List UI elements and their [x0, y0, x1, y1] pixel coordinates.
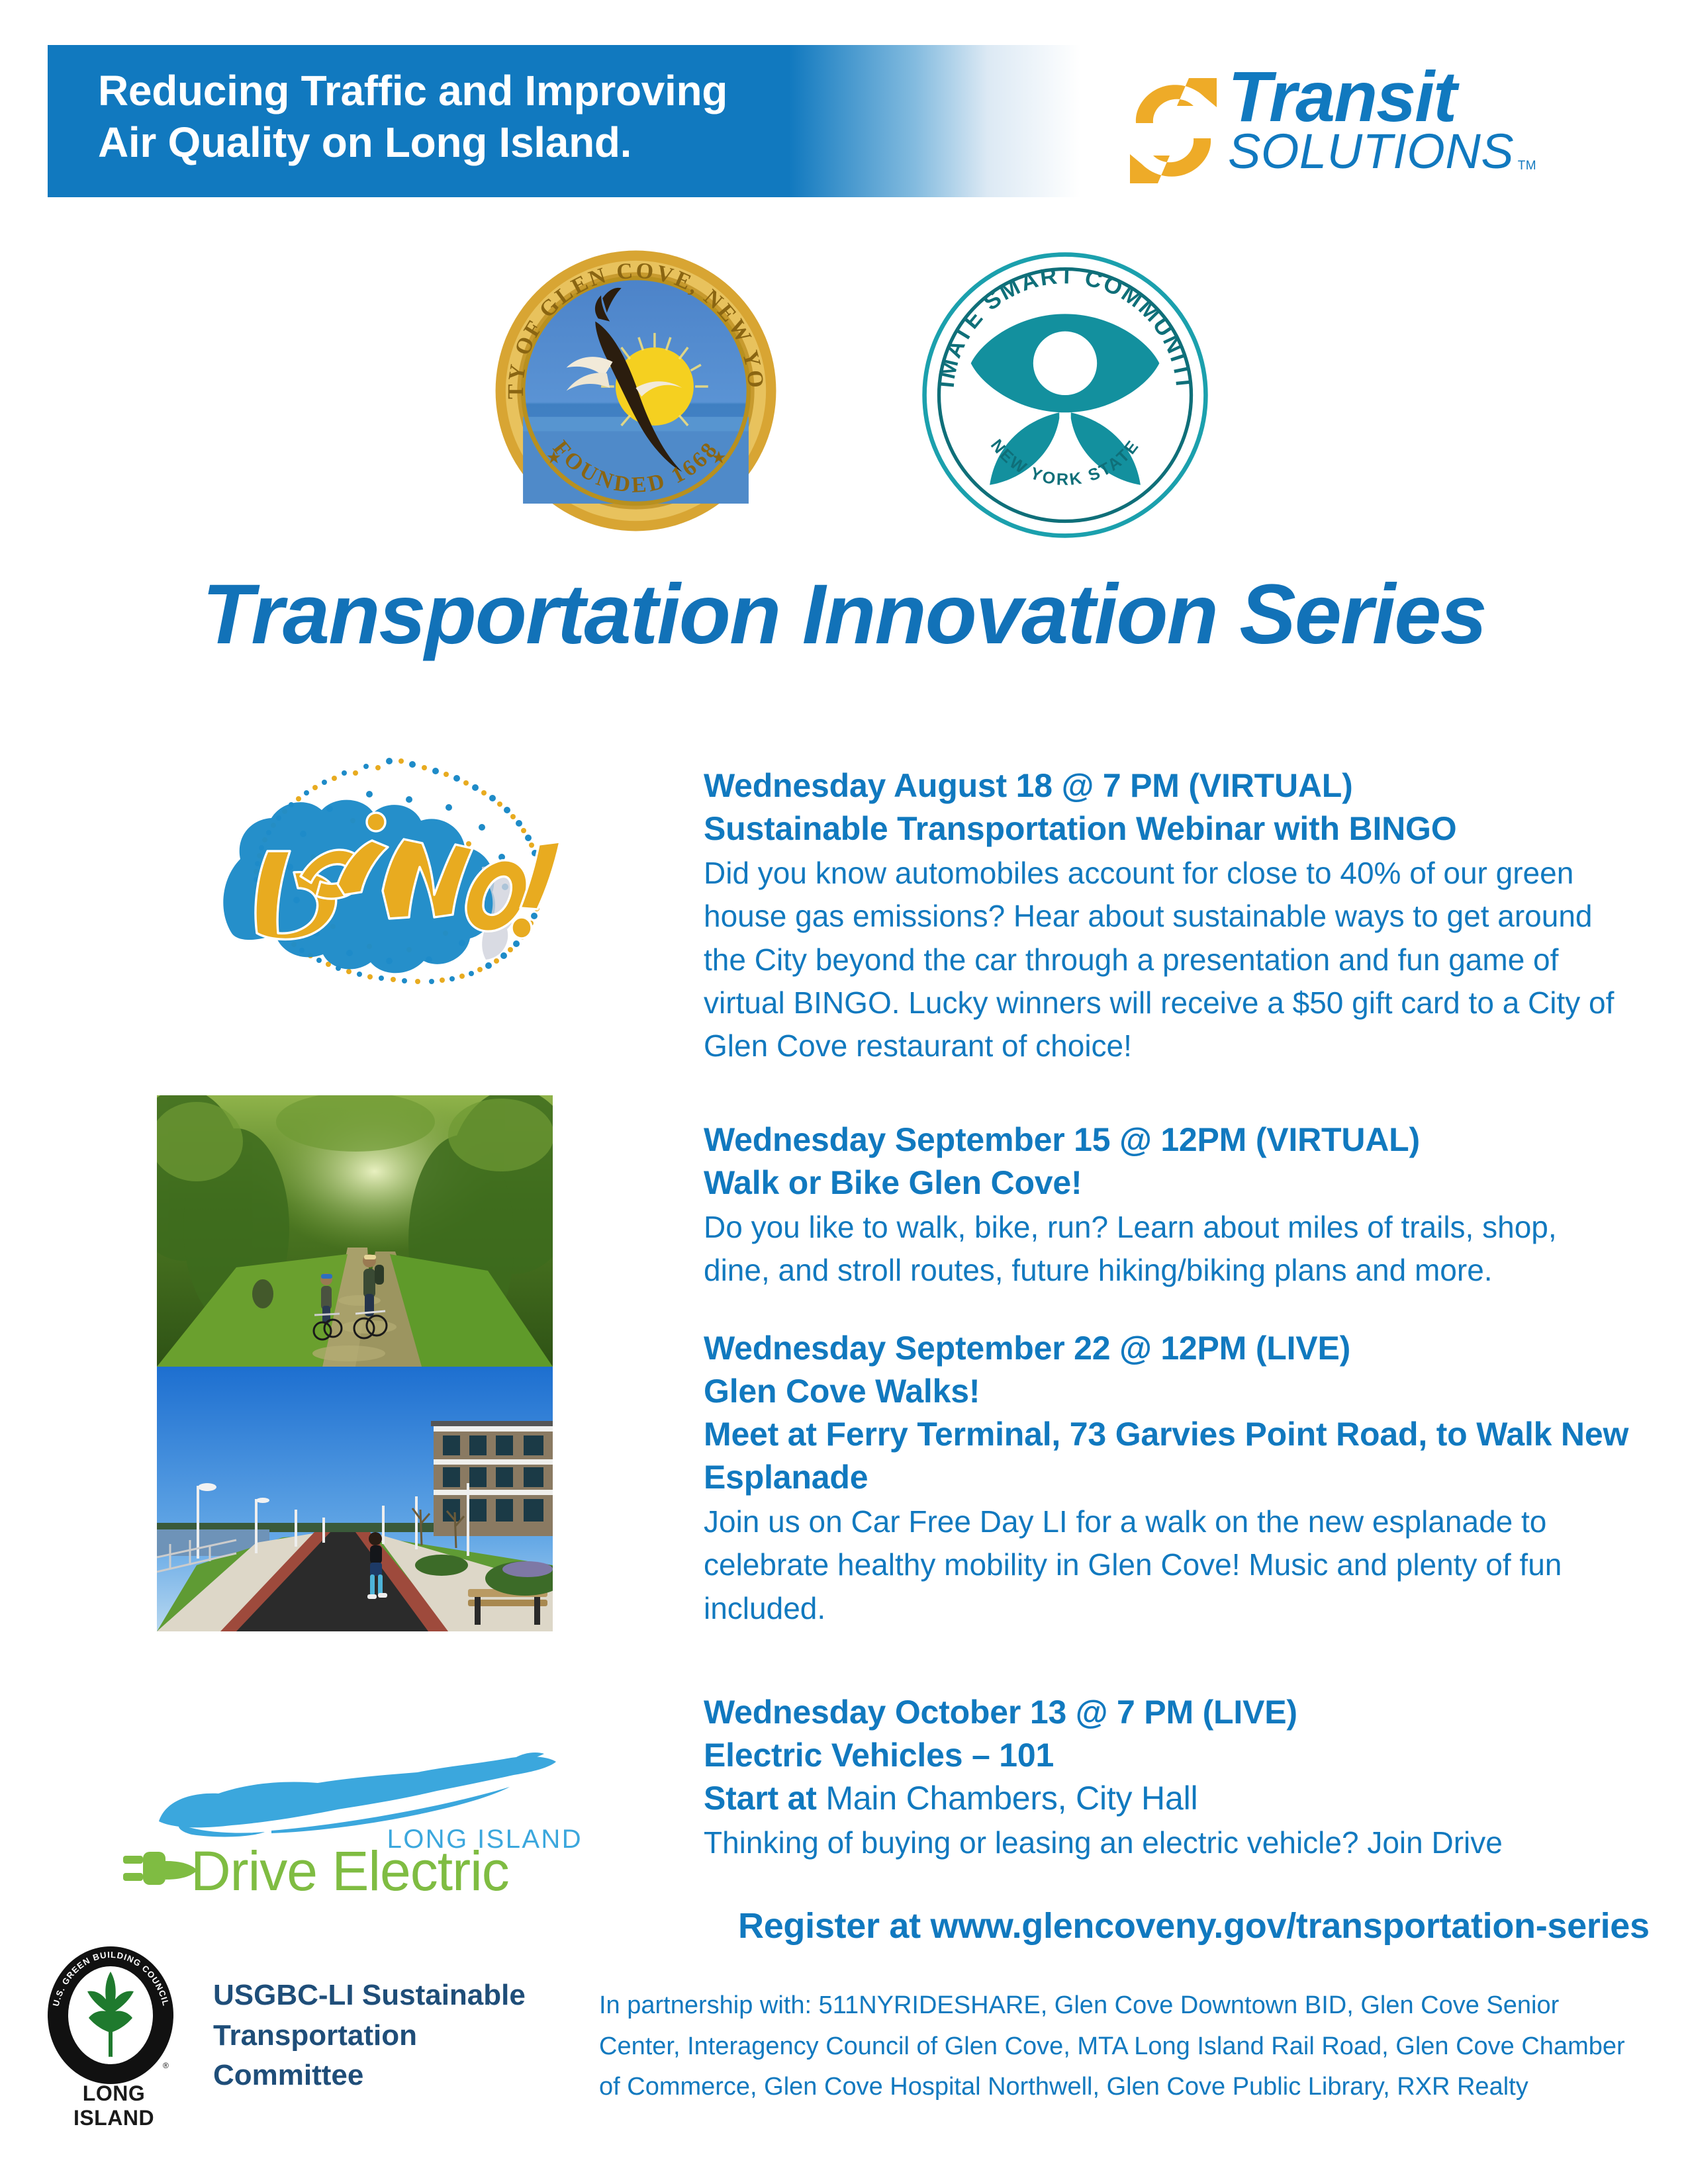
event-block-glen-cove-walks: Wednesday September 22 @ 12PM (LIVE) Gle… — [704, 1327, 1630, 1630]
event-description: Thinking of buying or leasing an electri… — [704, 1821, 1630, 1864]
transit-brand-subtitle: SOLUTIONS TM — [1228, 127, 1514, 176]
recycle-arrows-icon — [1125, 73, 1221, 189]
event-block-walk-or-bike: Wednesday September 15 @ 12PM (VIRTUAL) … — [704, 1118, 1630, 1293]
event-location: Meet at Ferry Terminal, 73 Garvies Point… — [704, 1413, 1630, 1499]
event-name: Electric Vehicles – 101 — [704, 1734, 1630, 1777]
partnership-credits: In partnership with: 511NYRIDESHARE, Gle… — [599, 1985, 1638, 2108]
transit-solutions-wordmark: Transit SOLUTIONS TM — [1228, 63, 1514, 176]
trademark-symbol: TM — [1518, 159, 1536, 172]
usgbc-committee-name: USGBC-LI Sustainable Transportation Comm… — [213, 1976, 571, 2096]
svg-text:★: ★ — [546, 447, 562, 467]
event-name: Glen Cove Walks! — [704, 1370, 1630, 1413]
event-location-label: Start at — [704, 1780, 825, 1817]
event-name: Sustainable Transportation Webinar with … — [704, 807, 1630, 850]
event-datetime: Wednesday October 13 @ 7 PM (LIVE) — [704, 1691, 1630, 1734]
event-description: Did you know automobiles account for clo… — [704, 852, 1630, 1068]
event-datetime: Wednesday September 15 @ 12PM (VIRTUAL) — [704, 1118, 1630, 1161]
usgbc-committee-line2: Transportation Committee — [213, 2016, 571, 2096]
event-description: Join us on Car Free Day LI for a walk on… — [704, 1500, 1630, 1630]
event-description: Do you like to walk, bike, run? Learn ab… — [704, 1206, 1630, 1293]
event-location-value: Main Chambers, City Hall — [825, 1780, 1197, 1817]
transit-brand-name: Transit — [1228, 63, 1514, 131]
register-link[interactable]: Register at www.glencoveny.gov/transport… — [738, 1905, 1678, 1948]
svg-text:★: ★ — [711, 447, 727, 467]
header-tagline-line2: Air Quality on Long Island. — [98, 116, 959, 168]
usgbc-region-label: LONG ISLAND — [48, 2081, 180, 2130]
svg-text:®: ® — [163, 2061, 169, 2070]
page-title: Transportation Innovation Series — [0, 566, 1688, 663]
climate-smart-communities-seal: CLIMATE SMART COMMUNITIES NEW YORK STATE — [920, 250, 1210, 540]
usgbc-seal-icon: U.S. GREEN BUILDING COUNCIL CHAPTER ® — [46, 1942, 175, 2085]
transit-solutions-logo: Transit SOLUTIONS TM — [1125, 63, 1549, 192]
header-tagline-line1: Reducing Traffic and Improving — [98, 65, 959, 116]
event-datetime: Wednesday September 22 @ 12PM (LIVE) — [704, 1327, 1630, 1370]
event-block-bingo-webinar: Wednesday August 18 @ 7 PM (VIRTUAL) Sus… — [704, 764, 1630, 1068]
plug-icon — [123, 1852, 197, 1885]
header-tagline: Reducing Traffic and Improving Air Quali… — [98, 65, 959, 168]
event-location: Start at Main Chambers, City Hall — [704, 1777, 1630, 1820]
photo-jogger-on-new-esplanade — [157, 1367, 553, 1631]
photo-cyclists-on-woodland-trail — [157, 1095, 553, 1367]
apartment-building — [431, 1421, 553, 1536]
event-name: Walk or Bike Glen Cove! — [704, 1161, 1630, 1205]
long-island-drive-electric-logo: LONG ISLAND Drive Electric — [119, 1694, 583, 1899]
usgbc-committee-line1: USGBC-LI Sustainable — [213, 1976, 571, 2016]
drive-electric-wordmark: Drive Electric — [191, 1840, 509, 1899]
city-of-glen-cove-seal: CITY OF GLEN COVE, NEW YORK FOUNDED 1668… — [491, 246, 780, 535]
event-datetime: Wednesday August 18 @ 7 PM (VIRTUAL) — [704, 764, 1630, 807]
event-block-electric-vehicles: Wednesday October 13 @ 7 PM (LIVE) Elect… — [704, 1691, 1630, 1864]
usgbc-li-footer: U.S. GREEN BUILDING COUNCIL CHAPTER ® LO… — [40, 1942, 569, 2108]
bingo-logo — [171, 735, 608, 993]
